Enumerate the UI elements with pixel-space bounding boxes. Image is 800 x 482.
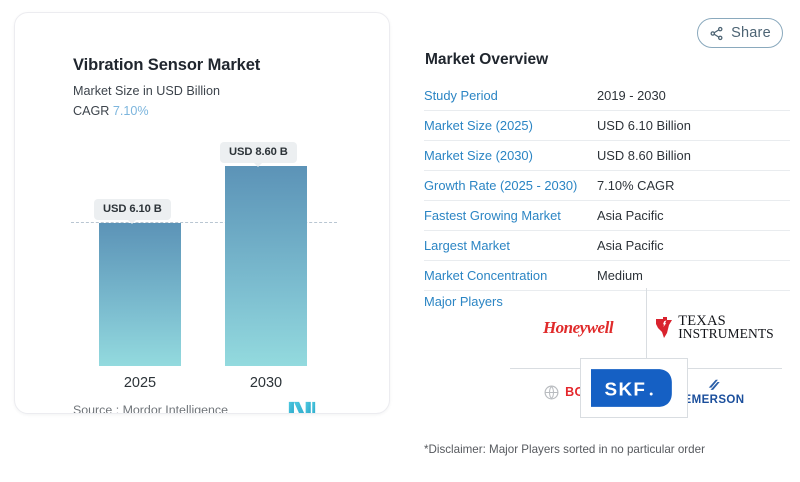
bar-value-label-2030: USD 8.60 B [220,142,297,163]
market-size-chart-card: Vibration Sensor Market Market Size in U… [14,12,390,414]
svg-text:SKF: SKF [605,380,647,401]
row-value: USD 8.60 Billion [597,148,691,163]
market-overview-title: Market Overview [425,51,548,69]
row-key: Market Concentration [424,268,597,283]
row-value: 7.10% CAGR [597,178,674,193]
table-row: Growth Rate (2025 - 2030) 7.10% CAGR [424,171,790,201]
table-row: Market Size (2030) USD 8.60 Billion [424,141,790,171]
player-logo-texas-instruments: TEXAS INSTRUMENTS [646,288,782,368]
market-overview-table: Study Period 2019 - 2030 Market Size (20… [424,81,790,291]
x-axis-tick-2025: 2025 [99,375,181,391]
emerson-wordmark: EMERSON [684,394,745,406]
chart-cagr: CAGR 7.10% [73,104,149,118]
row-key: Growth Rate (2025 - 2030) [424,178,597,193]
cagr-label: CAGR [73,104,109,118]
major-players-label: Major Players [424,294,503,309]
bosch-mark-icon [544,385,559,400]
honeywell-logo: Honeywell [543,318,613,338]
chart-title: Vibration Sensor Market [73,56,260,75]
row-key: Fastest Growing Market [424,208,597,223]
row-key: Market Size (2030) [424,148,597,163]
player-logo-skf: SKF [580,358,688,418]
share-button[interactable]: Share [697,18,783,48]
table-row: Fastest Growing Market Asia Pacific [424,201,790,231]
bar-2030 [225,166,307,366]
row-key: Market Size (2025) [424,118,597,133]
row-value: 2019 - 2030 [597,88,666,103]
cagr-value: 7.10% [113,104,149,118]
texas-state-icon [654,316,674,340]
chart-subtitle: Market Size in USD Billion [73,84,220,98]
row-key: Study Period [424,88,597,103]
chart-source: Source : Mordor Intelligence [73,403,228,414]
emerson-mark-icon [706,378,722,392]
row-value: Asia Pacific [597,208,664,223]
player-logo-honeywell: Honeywell [510,288,646,368]
x-axis-tick-2030: 2030 [225,375,307,391]
bar-2025 [99,223,181,366]
share-icon [709,26,724,41]
skf-logo: SKF [591,369,677,407]
table-row: Market Size (2025) USD 6.10 Billion [424,111,790,141]
table-row: Market Concentration Medium [424,261,790,291]
table-row: Largest Market Asia Pacific [424,231,790,261]
row-value: Medium [597,268,643,283]
players-disclaimer: *Disclaimer: Major Players sorted in no … [424,443,705,456]
share-label: Share [731,25,771,41]
table-row: Study Period 2019 - 2030 [424,81,790,111]
emerson-logo: EMERSON [684,378,745,406]
row-value: Asia Pacific [597,238,664,253]
mordor-intelligence-logo [287,399,317,414]
row-value: USD 6.10 Billion [597,118,691,133]
row-key: Largest Market [424,238,597,253]
ti-line-2: INSTRUMENTS [678,328,774,341]
bar-value-label-2025: USD 6.10 B [94,199,171,220]
texas-instruments-logo: TEXAS INSTRUMENTS [654,315,774,341]
